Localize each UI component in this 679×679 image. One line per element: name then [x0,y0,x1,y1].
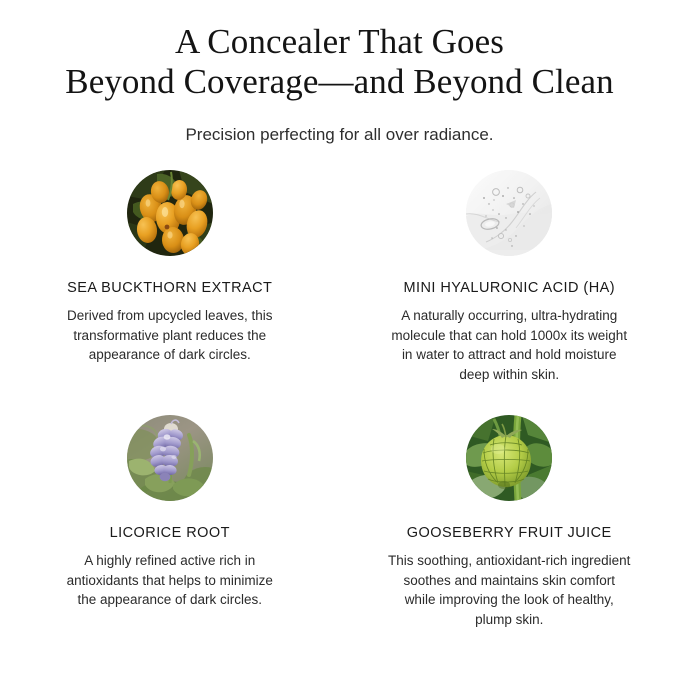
page-subtitle: Precision perfecting for all over radian… [0,102,679,146]
ingredient-description: A naturally occurring, ultra-hydrating m… [368,296,652,384]
ingredient-title: SEA BUCKTHORN EXTRACT [28,266,312,296]
page-title-line-1: A Concealer That Goes [30,22,649,62]
description-line: in water to attract and hold moisture [368,345,652,365]
ingredient-title: MINI HYALURONIC ACID (HA) [368,266,652,296]
ingredient-benefits-panel: A Concealer That Goes Beyond Coverage—an… [0,0,679,679]
description-line: antioxidants that helps to minimize [28,571,312,591]
header: A Concealer That Goes Beyond Coverage—an… [0,0,679,146]
ingredient-thumb-wrap [28,170,312,266]
description-line: plump skin. [368,610,652,630]
ingredient-description: Derived from upcycled leaves, this trans… [28,296,312,365]
ingredient-card-hyaluronic-acid: MINI HYALURONIC ACID (HA) A naturally oc… [340,170,679,384]
ingredient-card-licorice-root: LICORICE ROOT A highly refined active ri… [0,384,340,629]
gooseberry-fruit-photo [466,415,552,501]
description-line: appearance of dark circles. [28,345,312,365]
ingredient-title: LICORICE ROOT [28,511,312,541]
ingredient-thumb-wrap [28,415,312,511]
description-line: This soothing, antioxidant-rich ingredie… [368,551,652,571]
description-line: soothes and maintains skin comfort [368,571,652,591]
description-line: Derived from upcycled leaves, this [28,306,312,326]
description-line: molecule that can hold 1000x its weight [368,326,652,346]
ingredient-description: A highly refined active rich in antioxid… [28,541,312,610]
description-line: while improving the look of healthy, [368,590,652,610]
ingredient-description: This soothing, antioxidant-rich ingredie… [368,541,652,629]
description-line: the appearance of dark circles. [28,590,312,610]
page-title: A Concealer That Goes Beyond Coverage—an… [0,22,679,102]
description-line: A highly refined active rich in [28,551,312,571]
licorice-root-flower-photo [127,415,213,501]
ingredients-grid: SEA BUCKTHORN EXTRACT Derived from upcyc… [0,170,679,629]
page-title-line-2: Beyond Coverage—and Beyond Clean [30,62,649,102]
ingredient-card-sea-buckthorn: SEA BUCKTHORN EXTRACT Derived from upcyc… [0,170,340,384]
description-line: A naturally occurring, ultra-hydrating [368,306,652,326]
description-line: deep within skin. [368,365,652,385]
hyaluronic-acid-gel-photo [466,170,552,256]
ingredient-thumb-wrap [368,415,652,511]
description-line: transformative plant reduces the [28,326,312,346]
sea-buckthorn-berries-photo [127,170,213,256]
ingredient-thumb-wrap [368,170,652,266]
ingredient-card-gooseberry: GOOSEBERRY FRUIT JUICE This soothing, an… [340,384,679,629]
ingredient-title: GOOSEBERRY FRUIT JUICE [368,511,652,541]
